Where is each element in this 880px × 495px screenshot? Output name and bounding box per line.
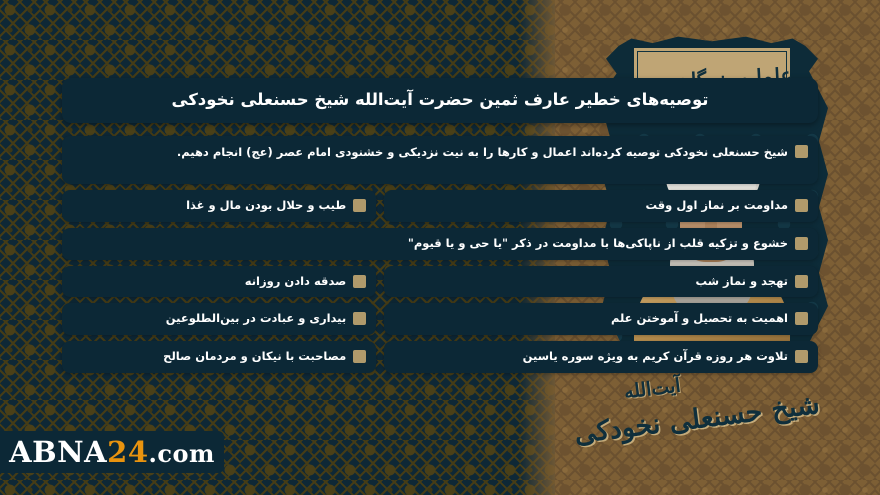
- advice-row-2: خشوع و تزکیه قلب از ناپاکی‌ها با مداومت …: [62, 228, 818, 260]
- advice-row-1: مداومت بر نماز اول وقت طیب و حلال بودن م…: [62, 190, 818, 222]
- signature-calligraphy: آیت‌الله شیخ حسنعلی نخودکی: [572, 378, 822, 438]
- advice-item-text: اهمیت به تحصیل و آموختن علم: [394, 310, 788, 328]
- advice-item-text: بیداری و عبادت در بین‌الطلوعین: [72, 310, 346, 328]
- bullet-square-icon: [795, 237, 808, 250]
- advice-item-4-right: اهمیت به تحصیل و آموختن علم: [384, 303, 818, 335]
- advice-item-3-right: تهجد و نماز شب: [384, 266, 818, 298]
- advice-item-text: مداومت بر نماز اول وقت: [394, 197, 788, 215]
- advice-item-text: تلاوت هر روزه قرآن کریم به ویژه سوره یاس…: [394, 348, 788, 366]
- site-logo-text: ABNA24.com: [9, 435, 215, 469]
- advice-item-text: تهجد و نماز شب: [394, 273, 788, 291]
- advice-item-4-left: بیداری و عبادت در بین‌الطلوعین: [62, 303, 376, 335]
- advice-row-5: تلاوت هر روزه قرآن کریم به ویژه سوره یاس…: [62, 341, 818, 373]
- advice-item-text: مصاحبت با نیکان و مردمان صالح: [72, 348, 346, 366]
- infographic-canvas: علما و بزرگان دینی آیت‌الله شیخ حسنعلی ن…: [0, 0, 880, 495]
- page-title-text: توصیه‌های خطیر عارف ثمین حضرت آیت‌الله ش…: [172, 89, 709, 111]
- bullet-square-icon: [353, 275, 366, 288]
- advice-row-3: تهجد و نماز شب صدقه دادن روزانه: [62, 266, 818, 298]
- bullet-square-icon: [795, 350, 808, 363]
- advice-row-4: اهمیت به تحصیل و آموختن علم بیداری و عبا…: [62, 303, 818, 335]
- advice-list: شیخ حسنعلی نخودکی توصیه کرده‌اند اعمال و…: [62, 136, 818, 379]
- bullet-square-icon: [795, 199, 808, 212]
- bullet-square-icon: [795, 275, 808, 288]
- site-logo[interactable]: ABNA24.com: [0, 431, 224, 473]
- advice-item-text: طیب و حلال بودن مال و غذا: [72, 197, 346, 215]
- bullet-square-icon: [353, 350, 366, 363]
- advice-item-intro: شیخ حسنعلی نخودکی توصیه کرده‌اند اعمال و…: [62, 136, 818, 184]
- logo-part-com: .com: [149, 439, 215, 468]
- page-title: توصیه‌های خطیر عارف ثمین حضرت آیت‌الله ش…: [62, 78, 818, 123]
- bullet-square-icon: [353, 199, 366, 212]
- advice-item-3-left: صدقه دادن روزانه: [62, 266, 376, 298]
- advice-item-2: خشوع و تزکیه قلب از ناپاکی‌ها با مداومت …: [62, 228, 818, 260]
- advice-item-text: صدقه دادن روزانه: [72, 273, 346, 291]
- advice-row-intro: شیخ حسنعلی نخودکی توصیه کرده‌اند اعمال و…: [62, 136, 818, 184]
- logo-part-24: 24: [107, 435, 148, 469]
- advice-item-text: شیخ حسنعلی نخودکی توصیه کرده‌اند اعمال و…: [72, 143, 788, 163]
- advice-item-1-left: طیب و حلال بودن مال و غذا: [62, 190, 376, 222]
- advice-item-1-right: مداومت بر نماز اول وقت: [384, 190, 818, 222]
- logo-part-abna: ABNA: [9, 435, 107, 469]
- advice-item-5-right: تلاوت هر روزه قرآن کریم به ویژه سوره یاس…: [384, 341, 818, 373]
- bullet-square-icon: [795, 312, 808, 325]
- bullet-square-icon: [353, 312, 366, 325]
- bullet-square-icon: [795, 145, 808, 158]
- advice-item-5-left: مصاحبت با نیکان و مردمان صالح: [62, 341, 376, 373]
- advice-item-text: خشوع و تزکیه قلب از ناپاکی‌ها با مداومت …: [72, 235, 788, 253]
